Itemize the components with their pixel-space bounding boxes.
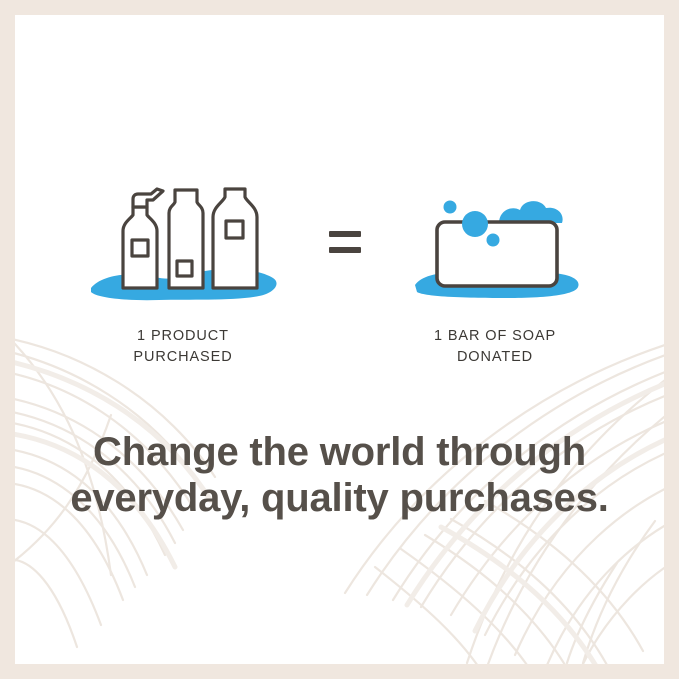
soap-benefit-block: 1 BAR OF SOAP DONATED	[375, 185, 615, 367]
pump-nozzle	[133, 189, 163, 207]
product-caption: 1 PRODUCT PURCHASED	[63, 326, 303, 367]
equals-bar-top	[329, 231, 361, 237]
equals-icon	[325, 225, 365, 259]
tall-bottle-label	[177, 261, 192, 276]
soap-bar-icon	[395, 185, 595, 310]
bubble-small-top	[444, 201, 457, 214]
bubble-large	[462, 211, 488, 237]
poster-canvas: 1 PRODUCT PURCHASED	[15, 15, 664, 664]
product-benefit-block: 1 PRODUCT PURCHASED	[63, 185, 303, 367]
soap-bar-body	[437, 222, 557, 286]
soap-caption: 1 BAR OF SOAP DONATED	[375, 326, 615, 367]
bubble-small-inner	[487, 234, 500, 247]
pump-bottle-label	[132, 240, 148, 256]
page-title: Change the world through everyday, quali…	[15, 430, 664, 521]
equals-bar-bottom	[329, 247, 361, 253]
promo-poster: 1 PRODUCT PURCHASED	[0, 0, 679, 679]
wide-bottle-label	[226, 221, 243, 238]
benefit-icon-row: 1 PRODUCT PURCHASED	[15, 185, 664, 385]
three-bottles-icon	[83, 185, 283, 310]
soap-foam-cloud	[499, 201, 563, 223]
